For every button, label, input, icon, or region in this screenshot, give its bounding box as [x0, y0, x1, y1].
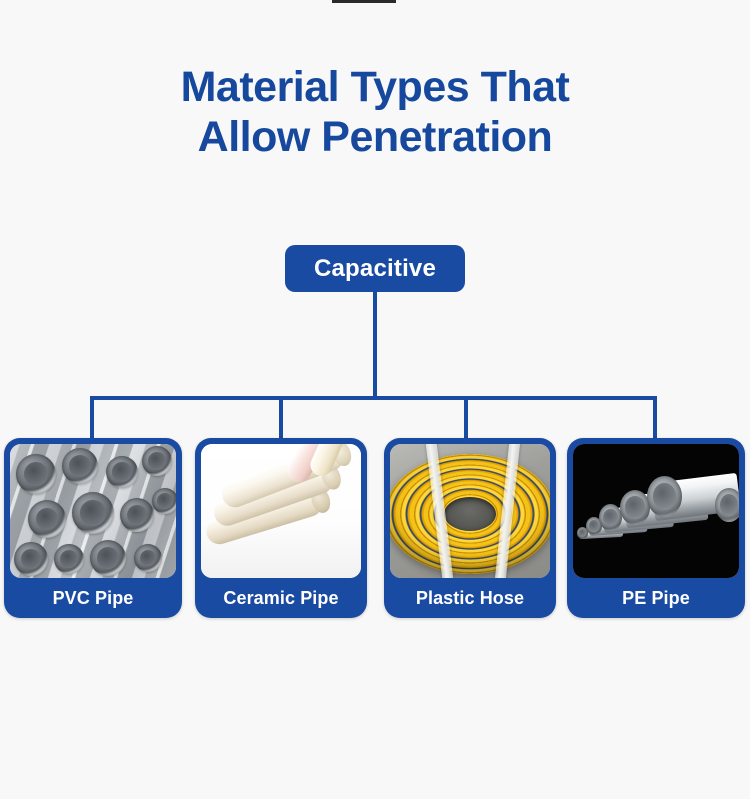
page-title-line-1: Material Types That: [0, 62, 750, 112]
connector-drop-pe-pipe: [653, 398, 657, 442]
connector-horizontal-bus: [90, 396, 657, 400]
card-pe-pipe[interactable]: PE Pipe: [567, 438, 745, 618]
connector-drop-pvc-pipe: [90, 398, 94, 442]
page-title: Material Types That Allow Penetration: [0, 62, 750, 162]
ceramic-pipe-image: [201, 444, 361, 578]
top-accent-bar: [332, 0, 396, 3]
pvc-pipe-image: [10, 444, 176, 578]
card-pvc-pipe[interactable]: PVC Pipe: [4, 438, 182, 618]
connector-stem: [373, 292, 377, 398]
card-ceramic-pipe[interactable]: Ceramic Pipe: [195, 438, 367, 618]
root-node-capacitive[interactable]: Capacitive: [285, 245, 465, 292]
card-label-pvc-pipe: PVC Pipe: [10, 578, 176, 618]
connector-drop-ceramic-pipe: [279, 398, 283, 442]
card-label-ceramic-pipe: Ceramic Pipe: [201, 578, 361, 618]
page-title-line-2: Allow Penetration: [0, 112, 750, 162]
pe-pipe-image: [573, 444, 739, 578]
card-plastic-hose[interactable]: Plastic Hose: [384, 438, 556, 618]
connector-drop-plastic-hose: [464, 398, 468, 442]
plastic-hose-image: [390, 444, 550, 578]
page-root: Material Types That Allow Penetration Ca…: [0, 0, 750, 799]
root-node-label: Capacitive: [314, 255, 436, 283]
card-label-plastic-hose: Plastic Hose: [390, 578, 550, 618]
card-label-pe-pipe: PE Pipe: [573, 578, 739, 618]
